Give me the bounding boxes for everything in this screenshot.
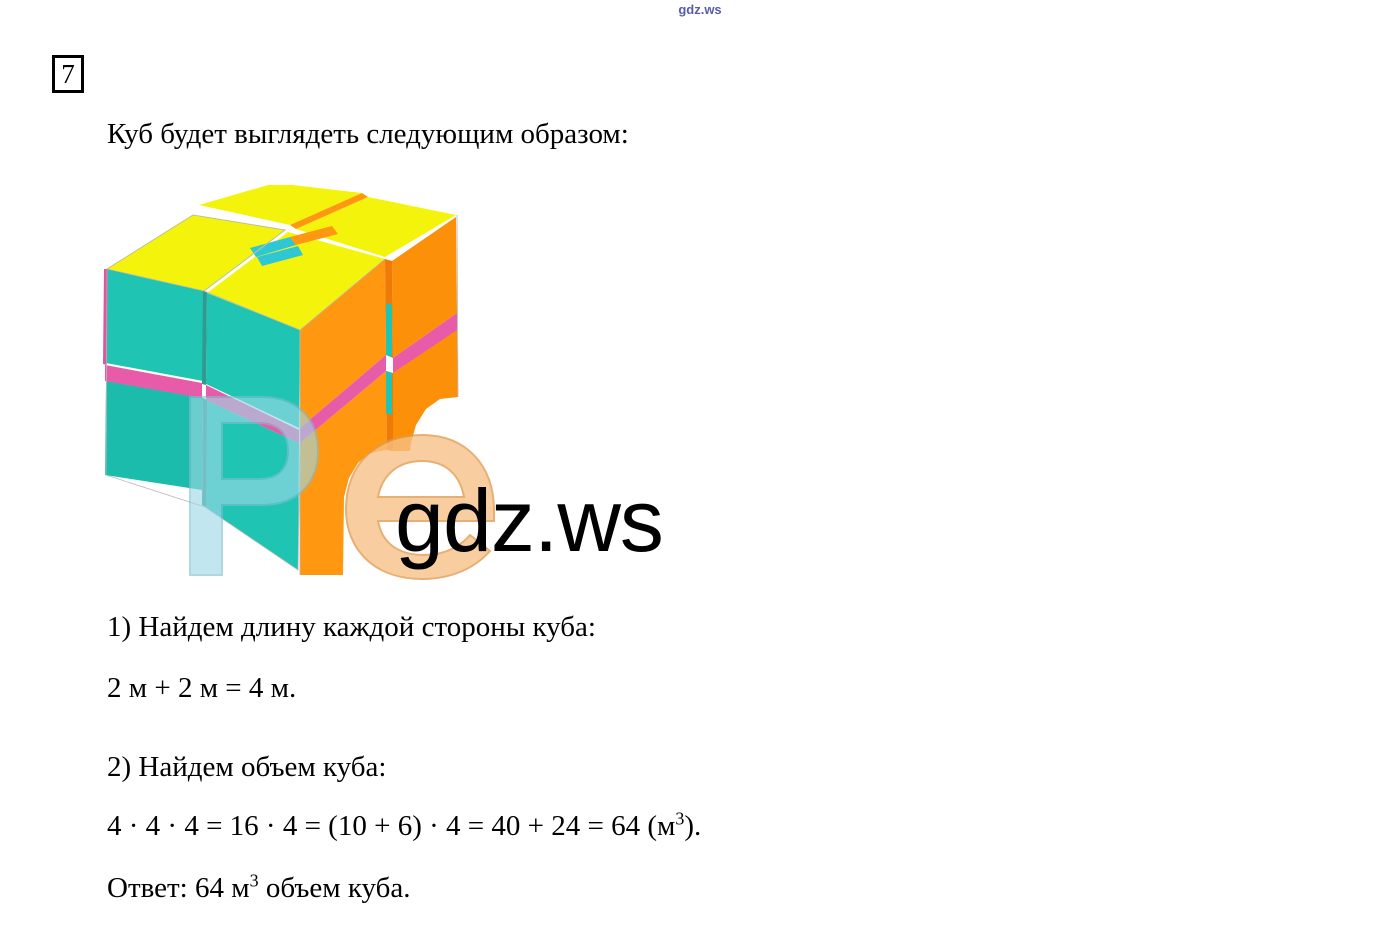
step-2-equation-suffix: ). [684,810,701,842]
step-2-label: 2) Найдем объем куба: [107,751,386,784]
answer-line: Ответ: 64 м3 объем куба. [107,872,411,905]
intro-text: Куб будет выглядеть следующим образом: [107,118,629,151]
exercise-number-box: 7 [52,55,84,93]
step-1-label: 1) Найдем длину каждой стороны куба: [107,611,596,644]
answer-exponent: 3 [250,870,259,890]
step-2-equation: 4 · 4 · 4 = 16 · 4 = (10 + 6) · 4 = 40 +… [107,810,701,843]
top-site-watermark: gdz.ws [0,2,1400,17]
answer-prefix: Ответ: 64 м [107,872,250,904]
answer-suffix: объем куба. [259,872,411,904]
step-2-equation-exponent: 3 [675,808,684,828]
step-2-equation-prefix: 4 · 4 · 4 = 16 · 4 = (10 + 6) · 4 = 40 +… [107,810,675,842]
brand-text-watermark: gdz.ws [395,470,663,572]
step-1-equation: 2 м + 2 м = 4 м. [107,672,296,705]
